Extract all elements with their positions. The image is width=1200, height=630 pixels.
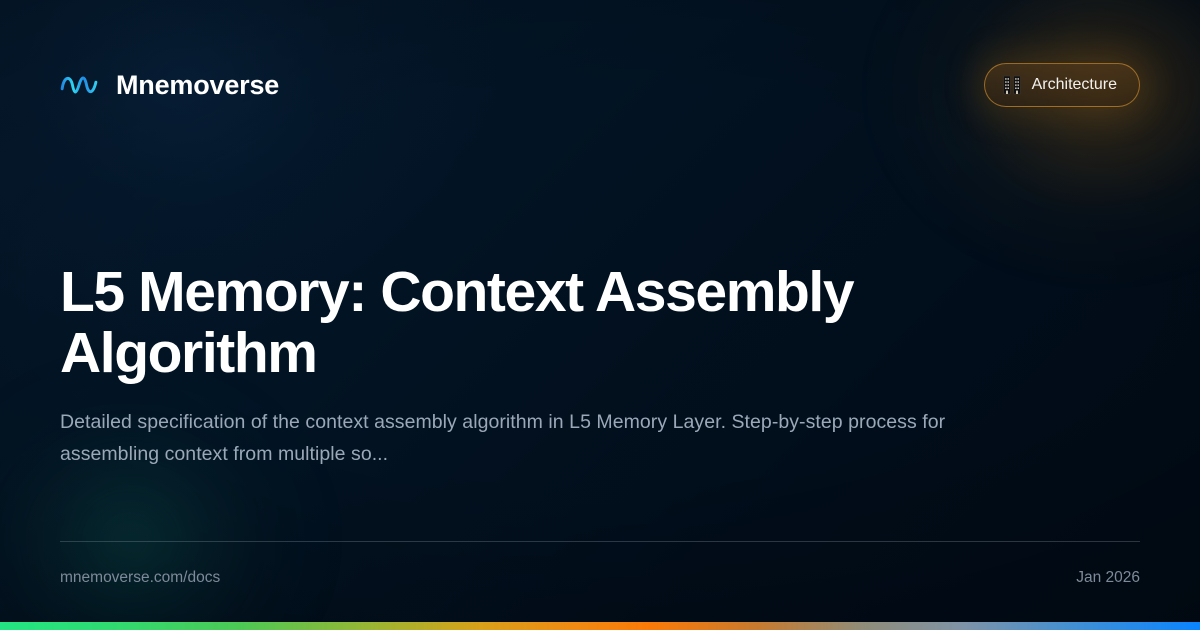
- brand[interactable]: Mnemoverse: [60, 70, 279, 100]
- footer-date: Jan 2026: [1076, 570, 1140, 586]
- footer: mnemoverse.com/docs Jan 2026: [60, 541, 1140, 586]
- footer-divider: [60, 541, 1140, 542]
- footer-url[interactable]: mnemoverse.com/docs: [60, 570, 220, 586]
- office-buildings-icon: [1003, 75, 1022, 95]
- og-card: Mnemoverse: [0, 0, 1200, 630]
- sine-wave-icon: [60, 70, 98, 100]
- footer-row: mnemoverse.com/docs Jan 2026: [60, 570, 1140, 586]
- header: Mnemoverse: [60, 60, 1140, 110]
- main-content: L5 Memory: Context Assembly Algorithm De…: [60, 262, 1080, 471]
- accent-gradient-bar: [0, 622, 1200, 630]
- brand-name: Mnemoverse: [116, 72, 279, 99]
- category-badge-architecture[interactable]: Architecture: [984, 63, 1140, 107]
- page-title: L5 Memory: Context Assembly Algorithm: [60, 262, 1080, 384]
- badge-label: Architecture: [1032, 77, 1117, 93]
- page-description: Detailed specification of the context as…: [60, 406, 980, 471]
